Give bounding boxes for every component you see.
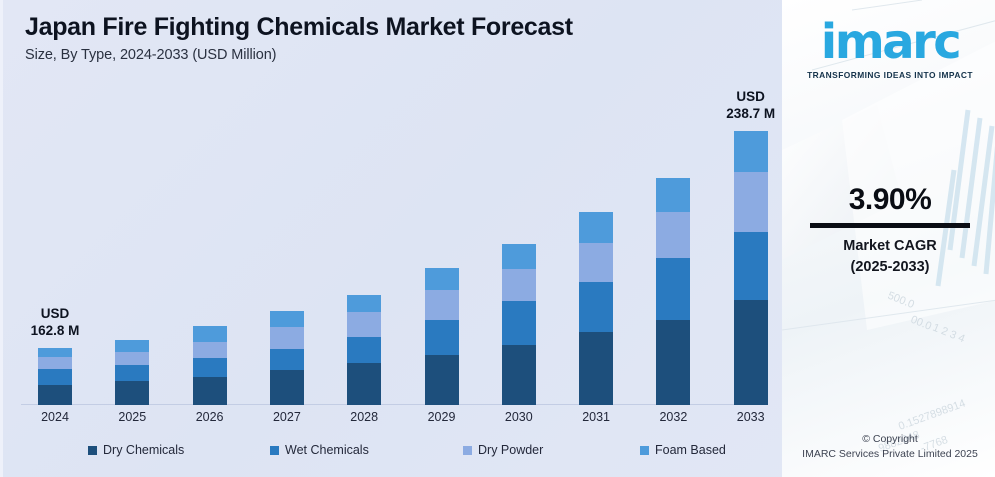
bar-segment-dry-chemicals[interactable] xyxy=(38,385,72,405)
legend-label: Wet Chemicals xyxy=(285,443,369,457)
bar-segment-dry-powder[interactable] xyxy=(734,172,768,232)
svg-text:1 2 3 4: 1 2 3 4 xyxy=(931,322,967,346)
stacked-bar[interactable] xyxy=(656,178,690,405)
bar-segment-foam-based[interactable] xyxy=(579,212,613,243)
brand-panel: 500.0 00.0 1 2 3 4 0.1527898914 9882048 … xyxy=(782,0,995,477)
stacked-bar[interactable] xyxy=(425,268,459,405)
bar-group-2033[interactable]: USD238.7 M xyxy=(734,131,768,405)
bar-segment-wet-chemicals[interactable] xyxy=(270,349,304,370)
bar-segment-wet-chemicals[interactable] xyxy=(115,365,149,381)
bar-segment-wet-chemicals[interactable] xyxy=(579,282,613,332)
bar-segment-dry-powder[interactable] xyxy=(579,243,613,282)
bar-segment-dry-powder[interactable] xyxy=(425,290,459,320)
bar-segment-foam-based[interactable] xyxy=(734,131,768,172)
bar-segment-dry-powder[interactable] xyxy=(115,352,149,365)
legend-swatch-icon xyxy=(463,446,472,455)
bar-segment-foam-based[interactable] xyxy=(656,178,690,212)
bar-segment-dry-chemicals[interactable] xyxy=(270,370,304,405)
bar-group-2030[interactable] xyxy=(502,244,536,405)
svg-text:0.1527898914: 0.1527898914 xyxy=(897,397,967,432)
bar-segment-dry-powder[interactable] xyxy=(270,327,304,349)
bar-group-2028[interactable] xyxy=(347,295,381,405)
bar-segment-dry-chemicals[interactable] xyxy=(734,300,768,405)
legend-label: Dry Powder xyxy=(478,443,543,457)
cagr-label: Market CAGR xyxy=(782,236,995,257)
copyright-line-1: © Copyright xyxy=(782,432,995,448)
x-axis-tick-2032: 2032 xyxy=(643,410,703,424)
bar-segment-dry-chemicals[interactable] xyxy=(425,355,459,405)
stacked-bar-plot: USD162.8 MUSD238.7 M xyxy=(3,80,782,405)
x-axis-tick-2025: 2025 xyxy=(102,410,162,424)
bar-segment-dry-powder[interactable] xyxy=(347,312,381,337)
bar-segment-foam-based[interactable] xyxy=(115,340,149,352)
bar-value-label: USD238.7 M xyxy=(726,89,775,123)
bar-segment-dry-chemicals[interactable] xyxy=(656,320,690,405)
bar-segment-wet-chemicals[interactable] xyxy=(656,258,690,320)
bar-segment-dry-chemicals[interactable] xyxy=(502,345,536,405)
bar-group-2025[interactable] xyxy=(115,340,149,405)
stacked-bar[interactable] xyxy=(38,348,72,405)
cagr-callout: 3.90% Market CAGR (2025-2033) xyxy=(782,183,995,278)
legend-item-dry-powder[interactable]: Dry Powder xyxy=(463,443,543,457)
bar-segment-wet-chemicals[interactable] xyxy=(193,358,227,377)
bar-value-label-unit: USD xyxy=(726,89,775,106)
stacked-bar[interactable] xyxy=(734,131,768,405)
bar-segment-dry-powder[interactable] xyxy=(656,212,690,258)
page-title: Japan Fire Fighting Chemicals Market For… xyxy=(25,12,573,42)
x-axis-tick-2029: 2029 xyxy=(412,410,472,424)
x-axis-tick-2030: 2030 xyxy=(489,410,549,424)
chart-subtitle: Size, By Type, 2024-2033 (USD Million) xyxy=(25,47,573,63)
x-axis-tick-2026: 2026 xyxy=(180,410,240,424)
chart-header: Japan Fire Fighting Chemicals Market For… xyxy=(25,12,573,63)
copyright-line-2: IMARC Services Private Limited 2025 xyxy=(782,447,995,463)
bar-segment-wet-chemicals[interactable] xyxy=(502,301,536,345)
bar-segment-wet-chemicals[interactable] xyxy=(734,232,768,300)
bar-segment-dry-chemicals[interactable] xyxy=(579,332,613,405)
bar-group-2032[interactable] xyxy=(656,178,690,405)
bar-segment-foam-based[interactable] xyxy=(347,295,381,312)
legend-item-wet-chemicals[interactable]: Wet Chemicals xyxy=(270,443,369,457)
x-axis-tick-2027: 2027 xyxy=(257,410,317,424)
logo-tagline: TRANSFORMING IDEAS INTO IMPACT xyxy=(782,70,995,80)
bar-segment-dry-powder[interactable] xyxy=(193,342,227,358)
bar-group-2029[interactable] xyxy=(425,268,459,405)
stacked-bar[interactable] xyxy=(502,244,536,405)
legend-swatch-icon xyxy=(640,446,649,455)
bar-segment-wet-chemicals[interactable] xyxy=(38,369,72,385)
x-axis-tick-2033: 2033 xyxy=(721,410,781,424)
bar-group-2024[interactable]: USD162.8 M xyxy=(38,348,72,405)
x-axis: 2024202520262027202820292030203120322033 xyxy=(3,406,782,432)
legend-swatch-icon xyxy=(270,446,279,455)
bar-segment-foam-based[interactable] xyxy=(425,268,459,290)
bar-segment-foam-based[interactable] xyxy=(38,348,72,357)
bar-segment-foam-based[interactable] xyxy=(193,326,227,342)
stacked-bar[interactable] xyxy=(270,311,304,405)
bar-group-2031[interactable] xyxy=(579,212,613,405)
bar-segment-dry-powder[interactable] xyxy=(38,357,72,369)
stacked-bar[interactable] xyxy=(115,340,149,405)
logo-wordmark: imarc xyxy=(782,18,995,66)
bar-group-2027[interactable] xyxy=(270,311,304,405)
bar-value-label: USD162.8 M xyxy=(31,306,80,340)
bar-segment-foam-based[interactable] xyxy=(502,244,536,269)
stacked-bar[interactable] xyxy=(193,326,227,405)
legend-swatch-icon xyxy=(88,446,97,455)
stacked-bar[interactable] xyxy=(579,212,613,405)
stacked-bar[interactable] xyxy=(347,295,381,405)
imarc-logo: imarc TRANSFORMING IDEAS INTO IMPACT xyxy=(782,18,995,80)
svg-text:00.0: 00.0 xyxy=(909,314,933,333)
chart-legend: Dry ChemicalsWet ChemicalsDry PowderFoam… xyxy=(3,443,782,467)
copyright-notice: © Copyright IMARC Services Private Limit… xyxy=(782,432,995,464)
legend-label: Dry Chemicals xyxy=(103,443,184,457)
bar-segment-foam-based[interactable] xyxy=(270,311,304,327)
bar-segment-wet-chemicals[interactable] xyxy=(347,337,381,363)
legend-item-foam-based[interactable]: Foam Based xyxy=(640,443,726,457)
bar-group-2026[interactable] xyxy=(193,326,227,405)
bar-segment-wet-chemicals[interactable] xyxy=(425,320,459,355)
infographic-root: Japan Fire Fighting Chemicals Market For… xyxy=(0,0,995,477)
chart-panel: Japan Fire Fighting Chemicals Market For… xyxy=(3,0,782,477)
cagr-value: 3.90% xyxy=(782,183,995,217)
bar-segment-dry-powder[interactable] xyxy=(502,269,536,301)
legend-label: Foam Based xyxy=(655,443,726,457)
bar-value-label-amount: 238.7 M xyxy=(726,106,775,123)
bar-segment-dry-chemicals[interactable] xyxy=(347,363,381,405)
bar-segment-dry-chemicals[interactable] xyxy=(115,381,149,405)
x-axis-tick-2031: 2031 xyxy=(566,410,626,424)
bar-value-label-unit: USD xyxy=(31,306,80,323)
cagr-period: (2025-2033) xyxy=(782,257,995,278)
bar-segment-dry-chemicals[interactable] xyxy=(193,377,227,405)
x-axis-tick-2028: 2028 xyxy=(334,410,394,424)
cagr-divider xyxy=(810,223,970,228)
legend-item-dry-chemicals[interactable]: Dry Chemicals xyxy=(88,443,184,457)
x-axis-tick-2024: 2024 xyxy=(25,410,85,424)
bar-value-label-amount: 162.8 M xyxy=(31,323,80,340)
